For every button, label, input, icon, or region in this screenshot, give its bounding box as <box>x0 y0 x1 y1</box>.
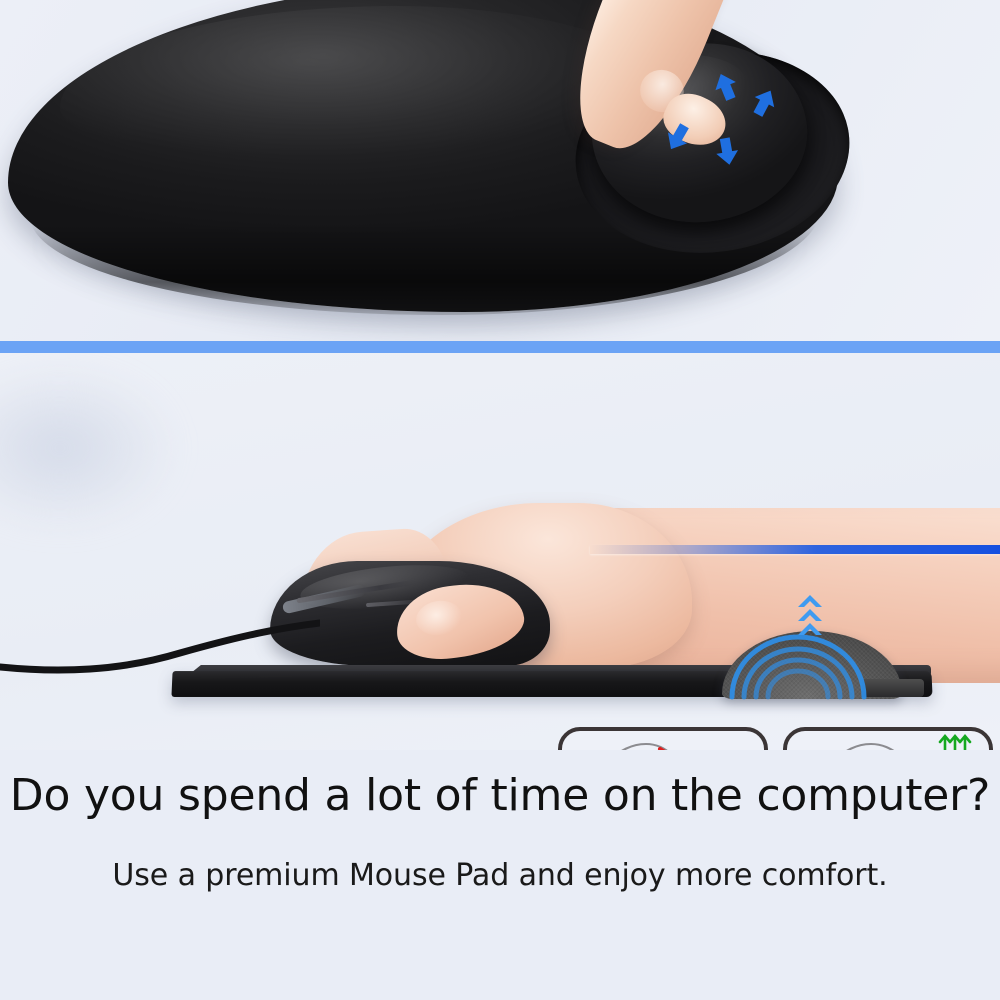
upward-chevrons <box>798 595 822 635</box>
pressure-arrow-down <box>712 134 743 168</box>
before-illustration <box>562 733 768 750</box>
subheadline: Use a premium Mouse Pad and enjoy more c… <box>0 858 1000 893</box>
marketing-text-panel: Do you spend a lot of time on the comput… <box>0 750 1000 1000</box>
arm-alignment-stripe <box>590 545 1000 554</box>
product-infographic: Before <box>0 0 1000 1000</box>
background-blur <box>0 363 180 533</box>
blue-divider-band <box>0 341 1000 353</box>
comparison-card-before[interactable]: Before <box>558 727 768 750</box>
comparison-card-after[interactable]: After <box>783 727 993 750</box>
support-effect-overlay <box>700 589 930 705</box>
mouse-pad-wrist-rest-photo <box>0 0 1000 341</box>
hand-on-mouse-photo: Before <box>0 353 1000 750</box>
divider-bar <box>0 341 1000 353</box>
after-illustration <box>787 733 993 750</box>
headline: Do you spend a lot of time on the comput… <box>0 770 1000 821</box>
